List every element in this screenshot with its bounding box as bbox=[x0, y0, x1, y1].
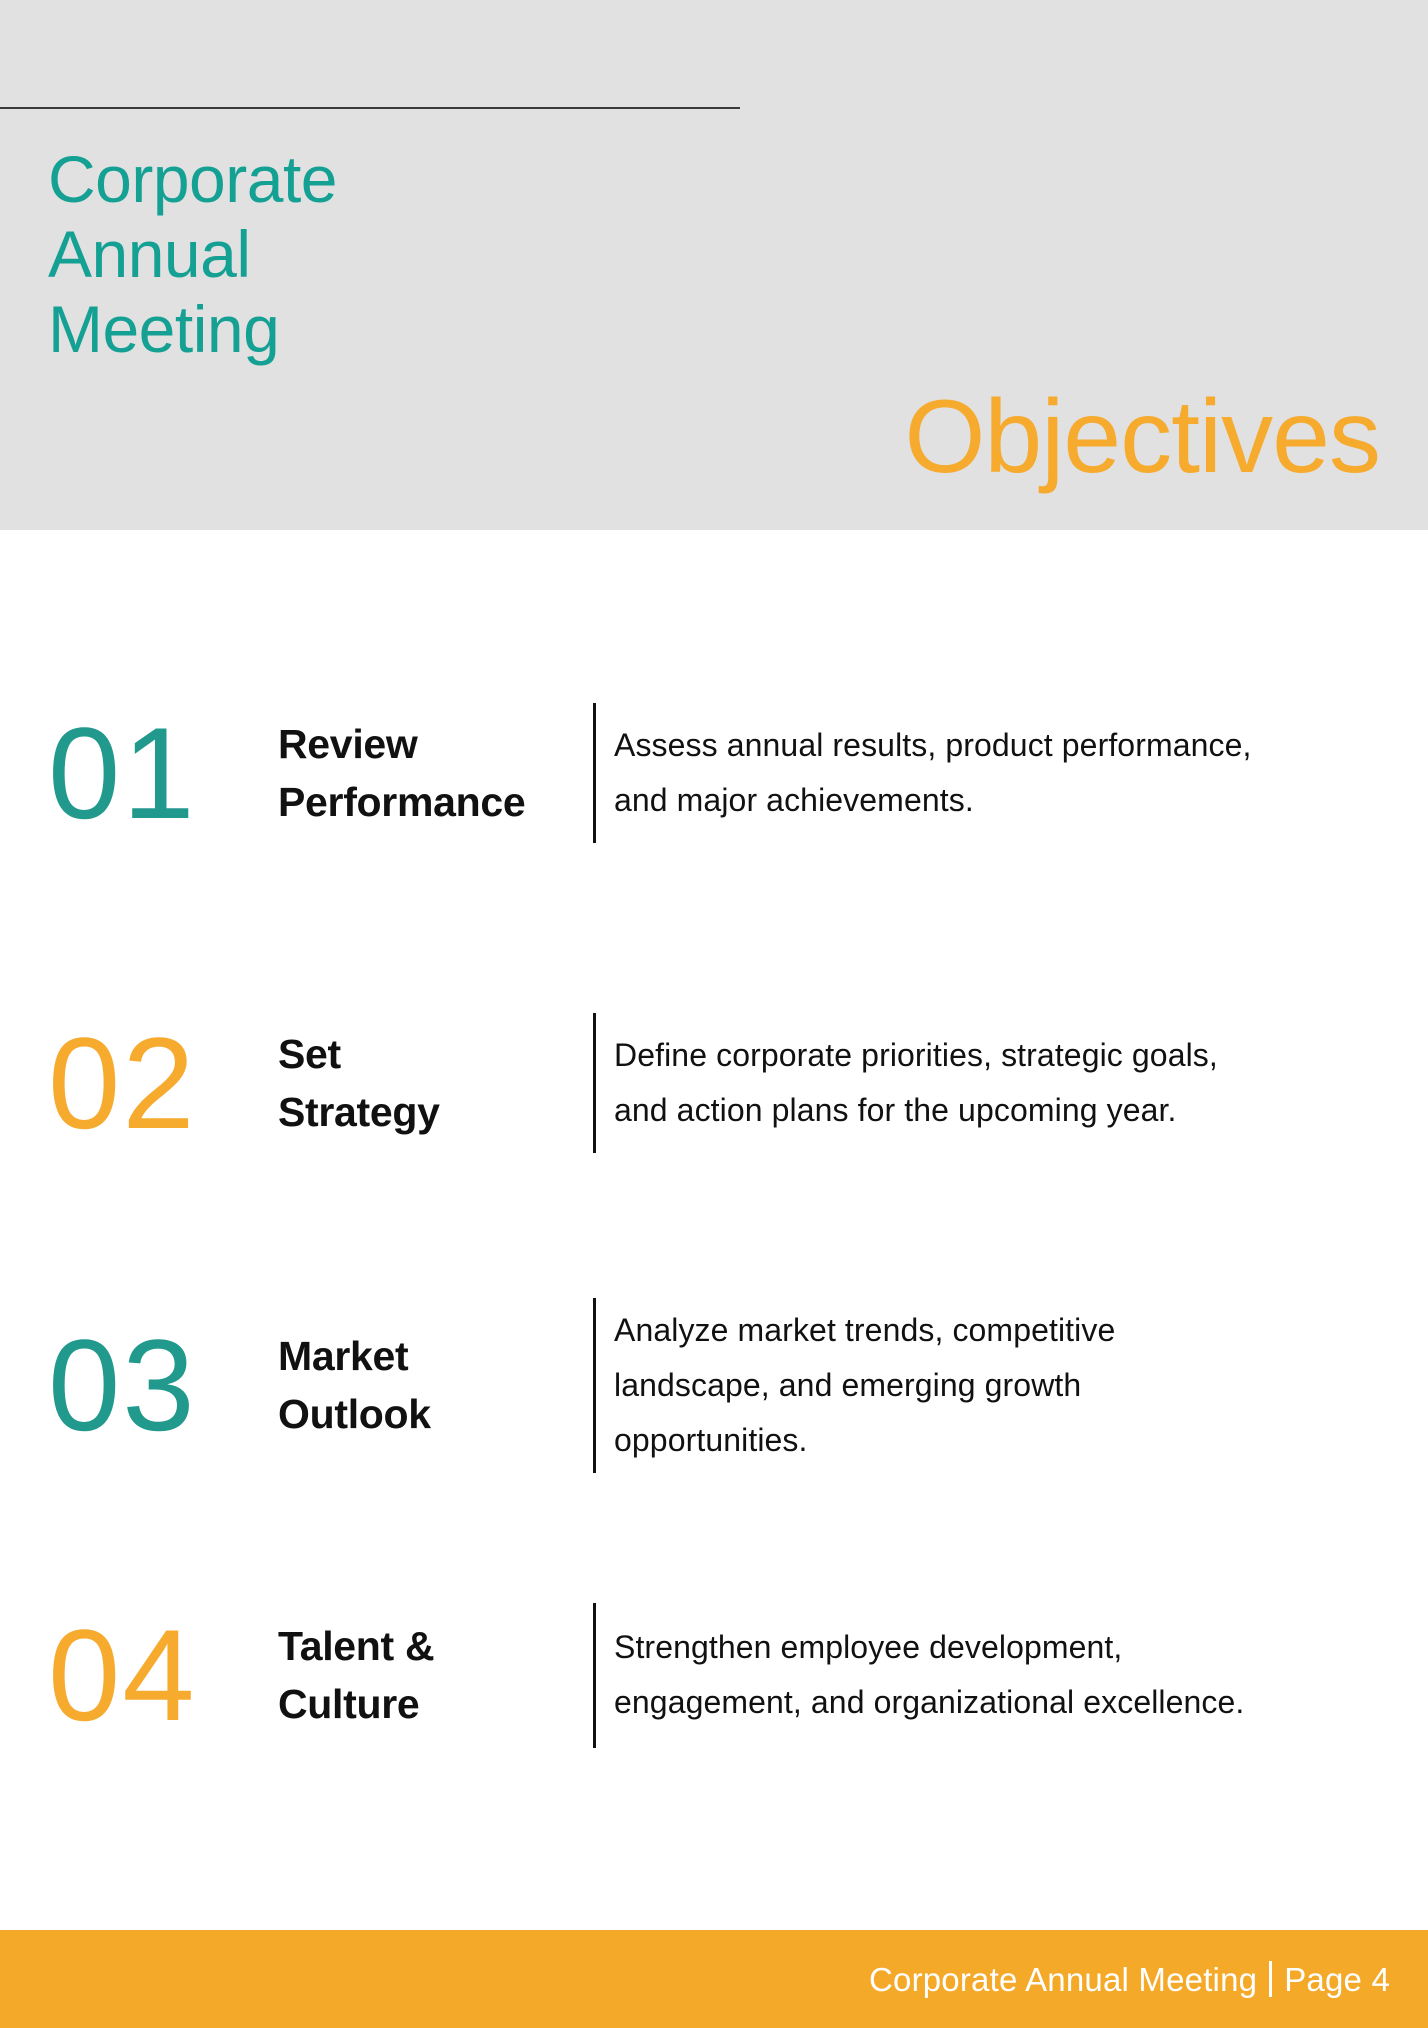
objective-title: Market Outlook bbox=[278, 1327, 593, 1443]
objective-title: Review Performance bbox=[278, 715, 593, 831]
objective-row: 04 Talent & Culture Strengthen employee … bbox=[0, 1590, 1428, 1760]
objective-divider bbox=[593, 703, 596, 843]
objective-description: Define corporate priorities, strategic g… bbox=[614, 1028, 1428, 1138]
objective-title: Set Strategy bbox=[278, 1025, 593, 1141]
deck-title: Corporate Annual Meeting bbox=[48, 142, 337, 367]
footer-separator bbox=[1269, 1961, 1272, 1997]
footer-page-label: Page 4 bbox=[1284, 1963, 1390, 1996]
objective-divider bbox=[593, 1298, 596, 1473]
slide-title: Objectives bbox=[904, 385, 1380, 489]
objective-title: Talent & Culture bbox=[278, 1617, 593, 1733]
footer-deck-name: Corporate Annual Meeting bbox=[869, 1963, 1257, 1996]
objective-number: 04 bbox=[48, 1610, 278, 1740]
objective-divider bbox=[593, 1013, 596, 1153]
objective-row: 03 Market Outlook Analyze market trends,… bbox=[0, 1290, 1428, 1480]
objective-description: Strengthen employee development, engagem… bbox=[614, 1620, 1428, 1730]
footer-bar: Corporate Annual Meeting Page 4 bbox=[0, 1930, 1428, 2028]
objective-number: 02 bbox=[48, 1018, 278, 1148]
header-divider-rule bbox=[0, 107, 740, 109]
objective-description: Analyze market trends, competitive lands… bbox=[614, 1303, 1428, 1468]
footer-text: Corporate Annual Meeting Page 4 bbox=[869, 1961, 1428, 1997]
objective-row: 02 Set Strategy Define corporate priorit… bbox=[0, 1000, 1428, 1165]
objective-divider bbox=[593, 1603, 596, 1748]
objective-row: 01 Review Performance Assess annual resu… bbox=[0, 690, 1428, 855]
objective-description: Assess annual results, product performan… bbox=[614, 718, 1428, 828]
objective-number: 01 bbox=[48, 708, 278, 838]
objective-number: 03 bbox=[48, 1320, 278, 1450]
